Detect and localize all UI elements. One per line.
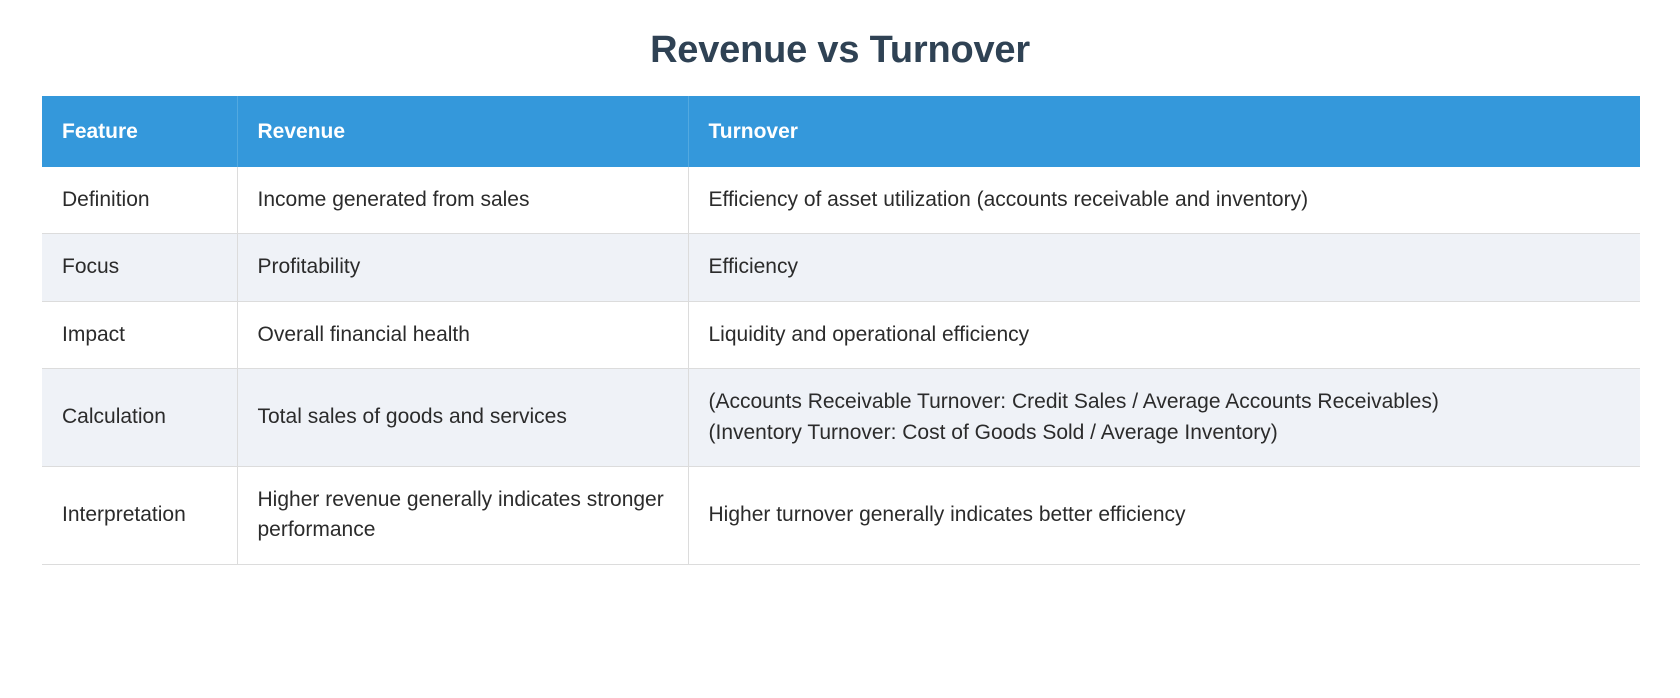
- table-header-row: Feature Revenue Turnover: [42, 96, 1640, 167]
- cell-turnover-line-1: (Accounts Receivable Turnover: Credit Sa…: [709, 387, 1621, 417]
- cell-turnover: Higher turnover generally indicates bett…: [688, 466, 1640, 564]
- column-header-revenue: Revenue: [237, 96, 688, 167]
- cell-turnover-line-1: Liquidity and operational efficiency: [709, 320, 1621, 350]
- table-row: Calculation Total sales of goods and ser…: [42, 369, 1640, 467]
- table-row: Focus Profitability Efficiency: [42, 234, 1640, 301]
- table-row: Impact Overall financial health Liquidit…: [42, 301, 1640, 368]
- cell-turnover-line-1: Efficiency: [709, 252, 1621, 282]
- cell-revenue: Total sales of goods and services: [237, 369, 688, 467]
- cell-turnover-line-1: Higher turnover generally indicates bett…: [709, 500, 1621, 530]
- column-header-turnover: Turnover: [688, 96, 1640, 167]
- cell-feature: Interpretation: [42, 466, 237, 564]
- cell-turnover: (Accounts Receivable Turnover: Credit Sa…: [688, 369, 1640, 467]
- table-header: Feature Revenue Turnover: [42, 96, 1640, 167]
- cell-turnover: Efficiency: [688, 234, 1640, 301]
- comparison-table-page: Revenue vs Turnover Feature Revenue Turn…: [0, 0, 1680, 698]
- revenue-vs-turnover-table: Feature Revenue Turnover Definition Inco…: [42, 96, 1640, 565]
- table-row: Interpretation Higher revenue generally …: [42, 466, 1640, 564]
- table-container: Feature Revenue Turnover Definition Inco…: [42, 96, 1640, 565]
- cell-revenue: Income generated from sales: [237, 167, 688, 234]
- cell-turnover: Liquidity and operational efficiency: [688, 301, 1640, 368]
- cell-turnover: Efficiency of asset utilization (account…: [688, 167, 1640, 234]
- page-title: Revenue vs Turnover: [0, 0, 1680, 74]
- cell-revenue: Profitability: [237, 234, 688, 301]
- cell-feature: Focus: [42, 234, 237, 301]
- cell-turnover-line-2: (Inventory Turnover: Cost of Goods Sold …: [709, 418, 1621, 448]
- table-body: Definition Income generated from sales E…: [42, 167, 1640, 565]
- column-header-feature: Feature: [42, 96, 237, 167]
- cell-revenue: Higher revenue generally indicates stron…: [237, 466, 688, 564]
- cell-turnover-line-1: Efficiency of asset utilization (account…: [709, 185, 1621, 215]
- cell-feature: Impact: [42, 301, 237, 368]
- cell-feature: Calculation: [42, 369, 237, 467]
- cell-revenue: Overall financial health: [237, 301, 688, 368]
- cell-feature: Definition: [42, 167, 237, 234]
- table-row: Definition Income generated from sales E…: [42, 167, 1640, 234]
